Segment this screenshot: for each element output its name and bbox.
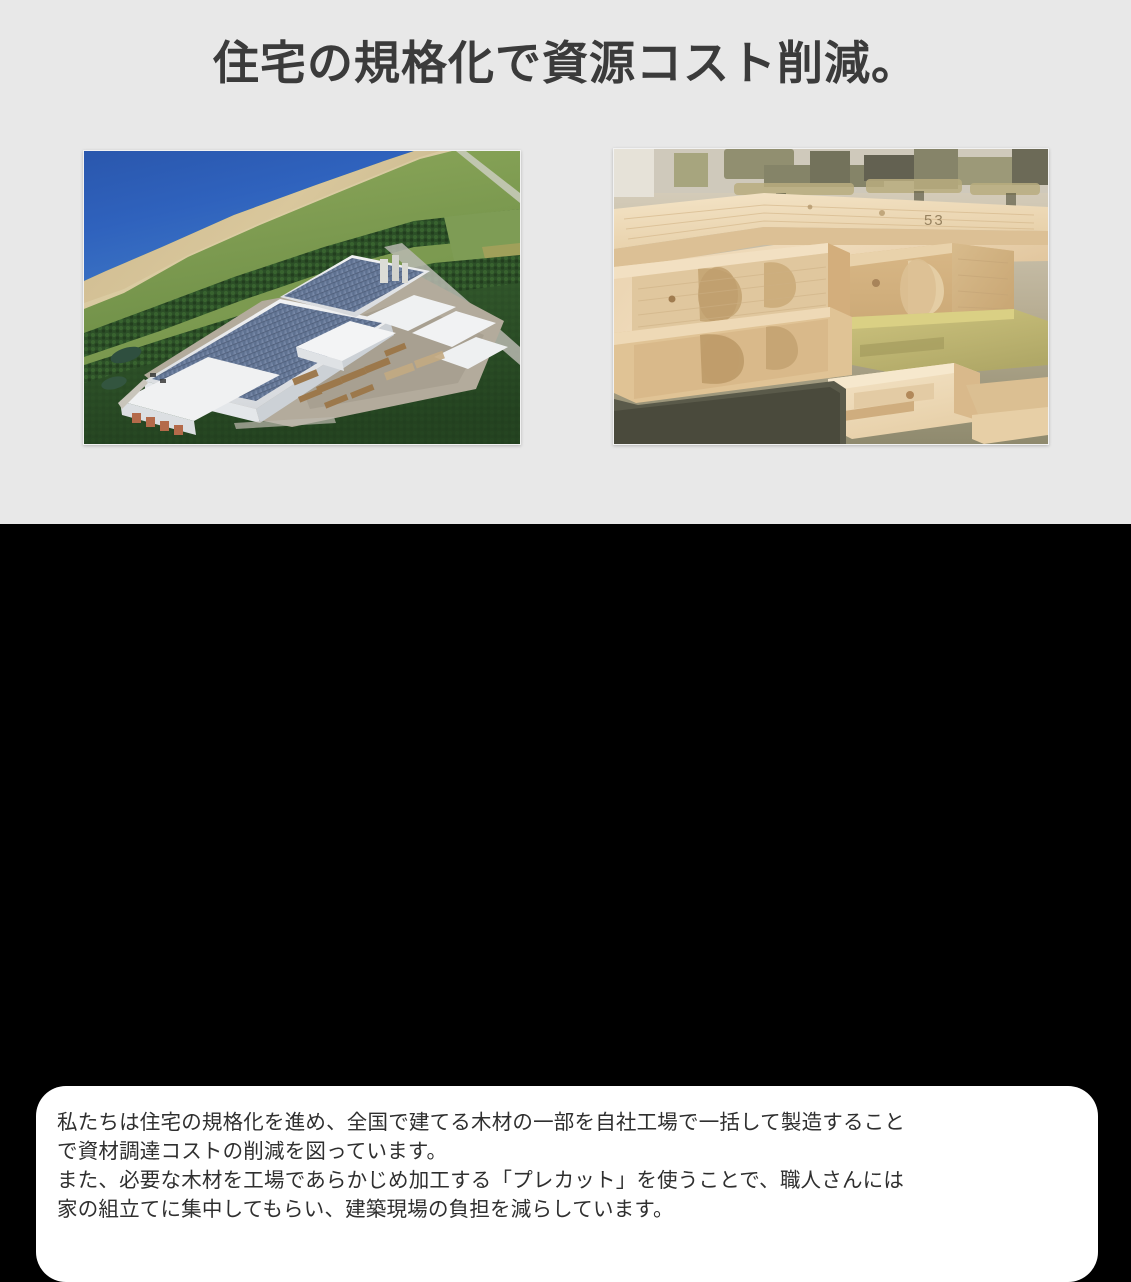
aerial-factory-photo xyxy=(83,150,521,445)
aerial-factory-illustration xyxy=(84,151,520,444)
page-title: 住宅の規格化で資源コスト削減。 xyxy=(0,36,1131,90)
description-line-3: また、必要な木材を工場であらかじめ加工する「プレカット」を使うことで、職人さんに… xyxy=(57,1166,1072,1195)
description-card: 私たちは住宅の規格化を進め、全国で建てる木材の一部を自社工場で一括して製造するこ… xyxy=(36,1086,1098,1282)
description-line-1: 私たちは住宅の規格化を進め、全国で建てる木材の一部を自社工場で一括して製造するこ… xyxy=(57,1108,1072,1137)
description-line-4: 家の組立てに集中してもらい、建築現場の負担を減らしています。 xyxy=(57,1195,1072,1224)
timber-marking-label: 53 xyxy=(924,212,945,229)
description-paragraph-2: また、必要な木材を工場であらかじめ加工する「プレカット」を使うことで、職人さんに… xyxy=(57,1166,1072,1224)
precut-timber-illustration: 53 xyxy=(614,149,1048,444)
precut-timber-photo: 53 xyxy=(613,148,1049,445)
upper-content-panel: 住宅の規格化で資源コスト削減。 xyxy=(0,0,1131,524)
description-line-2: で資材調達コストの削減を図っています。 xyxy=(57,1137,1072,1166)
lower-dark-band: 私たちは住宅の規格化を進め、全国で建てる木材の一部を自社工場で一括して製造するこ… xyxy=(0,524,1131,800)
slide-root: 住宅の規格化で資源コスト削減。 xyxy=(0,0,1131,800)
description-paragraph-1: 私たちは住宅の規格化を進め、全国で建てる木材の一部を自社工場で一括して製造するこ… xyxy=(57,1108,1072,1166)
description-text: 私たちは住宅の規格化を進め、全国で建てる木材の一部を自社工場で一括して製造するこ… xyxy=(57,1108,1072,1224)
